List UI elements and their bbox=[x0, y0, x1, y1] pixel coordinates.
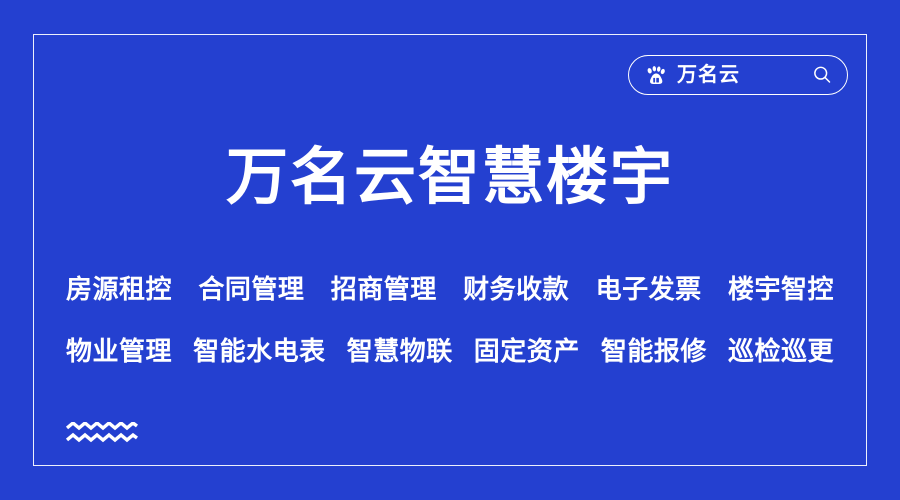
feature-list-row-2: 物业管理 智能水电表 智慧物联 固定资产 智能报修 巡检巡更 bbox=[66, 337, 834, 365]
baidu-paw-icon bbox=[645, 64, 667, 86]
feature-item[interactable]: 合同管理 bbox=[198, 275, 304, 303]
double-zigzag-wave-icon bbox=[66, 422, 138, 446]
feature-item[interactable]: 电子发票 bbox=[596, 275, 702, 303]
feature-item[interactable]: 招商管理 bbox=[331, 275, 437, 303]
feature-item[interactable]: 智慧物联 bbox=[347, 337, 453, 365]
feature-list-row-1: 房源租控 合同管理 招商管理 财务收款 电子发票 楼宇智控 bbox=[66, 275, 834, 303]
poster-canvas: 万名云 万名云智慧楼宇 房源租控 合同管理 招商管理 财务收款 电子发票 楼宇智… bbox=[0, 0, 900, 500]
feature-item[interactable]: 楼宇智控 bbox=[728, 275, 834, 303]
search-bar[interactable]: 万名云 bbox=[628, 55, 848, 95]
feature-item[interactable]: 智能报修 bbox=[601, 337, 707, 365]
search-icon[interactable] bbox=[811, 64, 833, 86]
feature-item[interactable]: 固定资产 bbox=[474, 337, 580, 365]
decorative-frame-border bbox=[33, 34, 867, 466]
feature-item[interactable]: 房源租控 bbox=[66, 275, 172, 303]
feature-item[interactable]: 智能水电表 bbox=[193, 337, 326, 365]
page-title: 万名云智慧楼宇 bbox=[0, 143, 900, 212]
feature-item[interactable]: 巡检巡更 bbox=[728, 337, 834, 365]
search-query-text: 万名云 bbox=[677, 65, 740, 85]
feature-item[interactable]: 物业管理 bbox=[66, 337, 172, 365]
feature-item[interactable]: 财务收款 bbox=[463, 275, 569, 303]
